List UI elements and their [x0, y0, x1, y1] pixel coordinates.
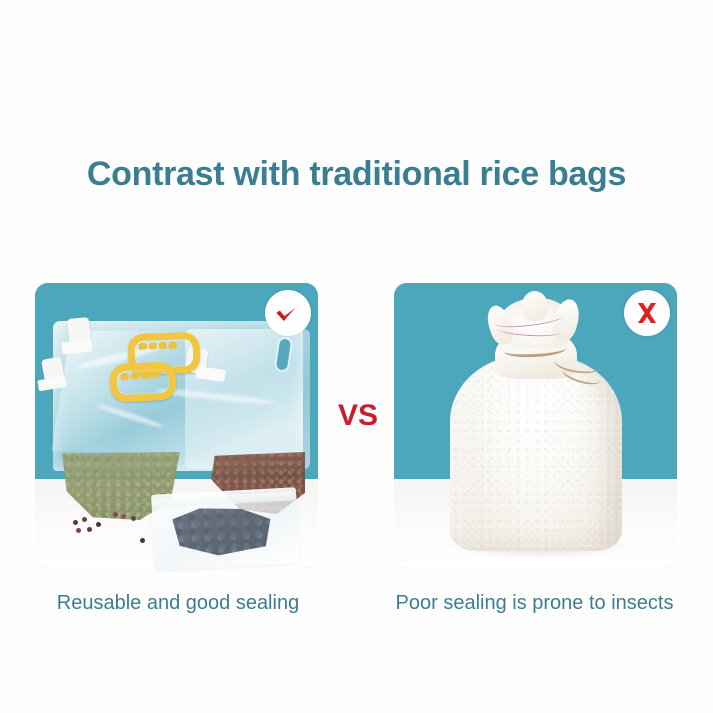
handle-grip-ridges — [120, 371, 166, 380]
cross-badge — [624, 290, 670, 336]
loose-bean — [87, 527, 92, 532]
loose-bean — [113, 512, 118, 517]
rice-sack-body — [450, 355, 622, 551]
loose-bean — [140, 538, 145, 543]
product-comparison-graphic: Contrast with traditional rice bags — [0, 0, 713, 713]
comparison-panel-right — [394, 283, 677, 568]
loose-bean — [73, 520, 78, 525]
rice-grain-texture — [450, 355, 622, 551]
loose-bean — [96, 522, 101, 527]
yellow-carry-handle-lower — [109, 361, 177, 402]
page-title: Contrast with traditional rice bags — [0, 155, 713, 194]
loose-bean — [82, 517, 87, 522]
handle-grip-ridges — [138, 341, 190, 350]
caption-right: Poor sealing is prone to insects — [356, 592, 713, 615]
check-badge — [265, 290, 311, 336]
dark-beans-fill — [170, 505, 272, 558]
versus-label: VS — [330, 399, 386, 433]
front-open-bag — [151, 491, 300, 570]
caption-left: Reusable and good sealing — [0, 592, 356, 615]
loose-bean — [121, 514, 126, 519]
loose-bean — [131, 516, 136, 521]
loose-bean — [76, 528, 81, 533]
